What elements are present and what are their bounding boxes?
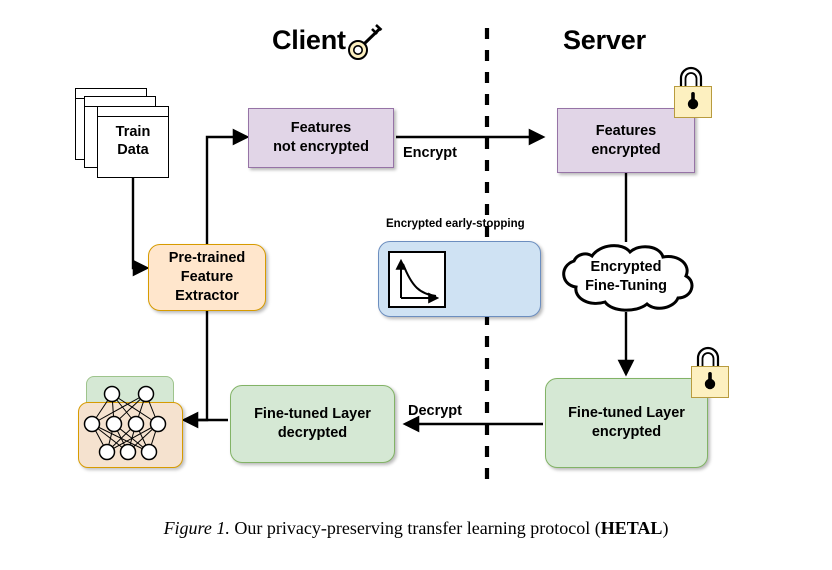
train-data-label: Train Data [98, 123, 168, 159]
train-data-card-front: Train Data [97, 106, 169, 178]
features-encrypted-label: Features encrypted [591, 122, 660, 160]
client-title: Client [272, 25, 346, 56]
lock-icon [669, 62, 713, 118]
fine-tuned-layer-encrypted-box[interactable]: Fine-tuned Layer encrypted [545, 378, 708, 468]
client-title-text: Client [272, 25, 346, 55]
neural-network-icon [78, 376, 183, 468]
loss-curve-icon [388, 251, 446, 308]
encrypt-label: Encrypt [403, 145, 457, 161]
server-title: Server [563, 25, 646, 56]
pre-trained-feature-extractor-label: Pre-trained Feature Extractor [169, 249, 246, 306]
features-not-encrypted-box[interactable]: Features not encrypted [248, 108, 394, 168]
encrypted-fine-tuning-label: Encrypted Fine-Tuning [550, 258, 702, 296]
decrypt-label: Decrypt [408, 403, 462, 419]
edge-extractor-to-features-plain [207, 137, 247, 244]
edge-extractor-to-network [184, 311, 207, 420]
card-titlebar [98, 107, 168, 117]
fine-tuned-layer-decrypted-label: Fine-tuned Layer decrypted [254, 405, 371, 443]
lock-icon [686, 342, 730, 398]
figure-canvas: Client Server Train Data Pre-trained Fea… [0, 0, 832, 570]
features-not-encrypted-label: Features not encrypted [273, 119, 369, 157]
figure-caption-text: Our privacy-preserving transfer learning… [230, 518, 601, 538]
server-title-text: Server [563, 25, 646, 55]
pre-trained-feature-extractor-box[interactable]: Pre-trained Feature Extractor [148, 244, 266, 311]
fine-tuned-layer-decrypted-box[interactable]: Fine-tuned Layer decrypted [230, 385, 395, 463]
fine-tuned-layer-encrypted-label: Fine-tuned Layer encrypted [568, 404, 685, 442]
figure-caption-tail: ) [662, 518, 668, 538]
network-graph [78, 376, 183, 468]
key-icon [345, 22, 387, 62]
figure-caption-acronym: HETAL [601, 518, 663, 538]
encrypted-early-stopping-label: Encrypted early-stopping [386, 218, 525, 230]
edge-traindata-to-extractor [133, 175, 147, 268]
figure-caption: Figure 1. Our privacy-preserving transfe… [0, 518, 832, 539]
figure-caption-label: Figure 1. [164, 518, 230, 538]
encrypted-fine-tuning-cloud[interactable]: Encrypted Fine-Tuning [550, 240, 702, 314]
train-data-icon: Train Data [75, 88, 185, 180]
